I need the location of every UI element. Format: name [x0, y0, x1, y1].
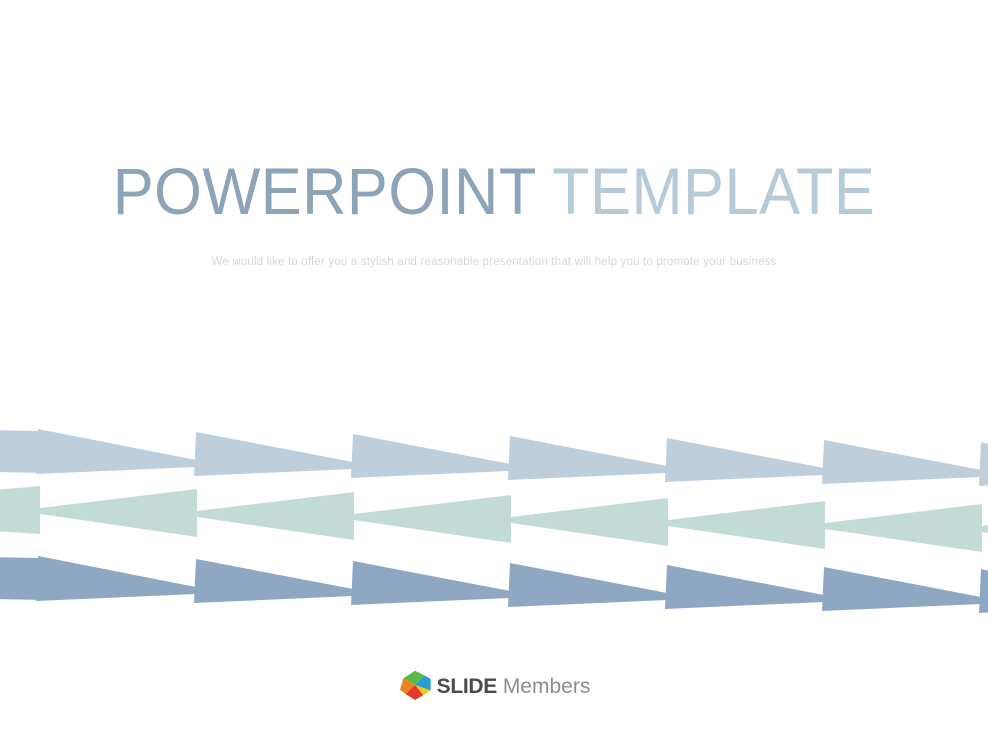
arrow-shape — [508, 436, 667, 480]
brand-name-light: Members — [497, 675, 590, 698]
title-block: POWERPOINT TEMPLATE — [0, 158, 988, 224]
arrow-shape — [665, 565, 824, 609]
page-subtitle: We would like to offer you a stylish and… — [0, 256, 988, 268]
arrow-shape — [508, 563, 667, 607]
arrow-shape — [668, 501, 825, 549]
arrow-row-top — [0, 428, 988, 486]
arrow-shape — [40, 489, 197, 537]
arrow-shape — [194, 559, 353, 603]
arrow-shape — [351, 561, 510, 605]
brand-name-bold: SLIDE — [437, 675, 497, 698]
arrow-shape — [511, 498, 668, 546]
arrow-row-bottom — [0, 555, 988, 613]
arrow-shape — [665, 438, 824, 482]
arrow-shape — [194, 432, 353, 476]
brand-wordmark: SLIDE Members — [437, 676, 591, 697]
arrow-shape — [39, 430, 196, 473]
footer-logo: SLIDE Members — [0, 668, 988, 702]
slide-members-cube-logo-icon — [398, 668, 432, 702]
page-title-secondary: TEMPLATE — [536, 154, 876, 228]
page-title: POWERPOINT TEMPLATE — [35, 158, 954, 224]
presentation-slide: POWERPOINT TEMPLATE We would like to off… — [0, 0, 988, 741]
arrow-shape — [979, 569, 988, 613]
arrow-shape — [822, 567, 981, 611]
page-title-primary: POWERPOINT — [113, 154, 536, 228]
arrow-decoration-band — [0, 410, 988, 620]
arrow-shape — [351, 434, 510, 478]
arrow-shape — [979, 442, 988, 486]
arrow-shape — [822, 440, 981, 484]
arrow-shape — [197, 492, 354, 540]
arrow-row-middle — [0, 486, 988, 555]
arrow-shape — [982, 507, 988, 555]
arrow-shape — [36, 556, 196, 601]
arrow-shape — [825, 504, 982, 552]
arrow-shape — [354, 495, 511, 543]
